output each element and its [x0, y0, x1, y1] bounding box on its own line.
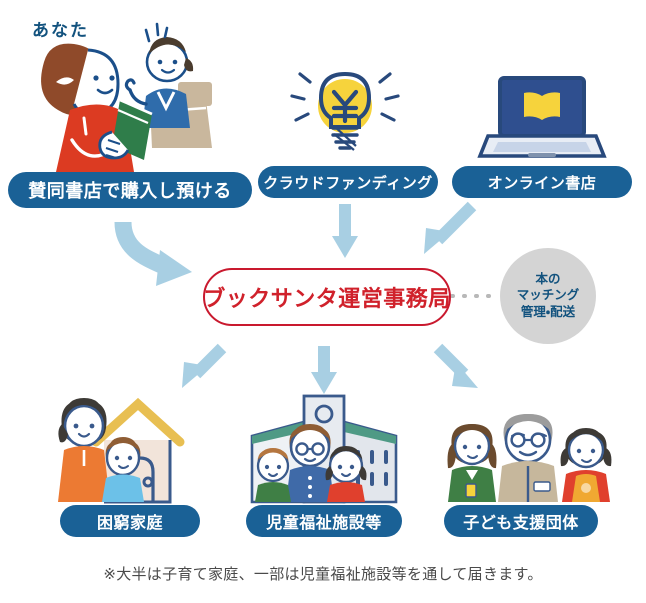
support-adults-icon [448, 414, 612, 502]
recipient-pill-support-group[interactable]: 子ども支援団体 [444, 505, 598, 537]
children-building-icon [252, 396, 396, 502]
laptop-book-icon [480, 78, 604, 157]
flow-diagram: あなた 賛同書店で購入し預ける クラウドファンディング オンライン書店 ブックサ… [0, 0, 646, 603]
you-label: あなた [32, 16, 89, 41]
recipient-pill-poor-family[interactable]: 困窮家庭 [60, 505, 200, 537]
matching-line-1: 本の [535, 272, 560, 288]
source-pill-bookstore[interactable]: 賛同書店で購入し預ける [8, 172, 252, 208]
matching-line-3: 管理・配送 [521, 305, 575, 321]
hub-label: ブックサンタ運営事務局 [203, 281, 451, 313]
matching-line-2: マッチング [517, 288, 580, 304]
recipient-pill-institution[interactable]: 児童福祉施設等 [246, 505, 402, 537]
family-house-icon [58, 398, 180, 502]
woman-buying-book-icon [41, 24, 212, 172]
matching-circle: 本の マッチング 管理・配送 [500, 248, 596, 344]
source-pill-onlinestore[interactable]: オンライン書店 [452, 166, 632, 198]
source-pill-crowdfunding[interactable]: クラウドファンディング [258, 166, 438, 198]
hub-capsule[interactable]: ブックサンタ運営事務局 [203, 268, 451, 326]
lightbulb-yen-icon [292, 74, 398, 150]
